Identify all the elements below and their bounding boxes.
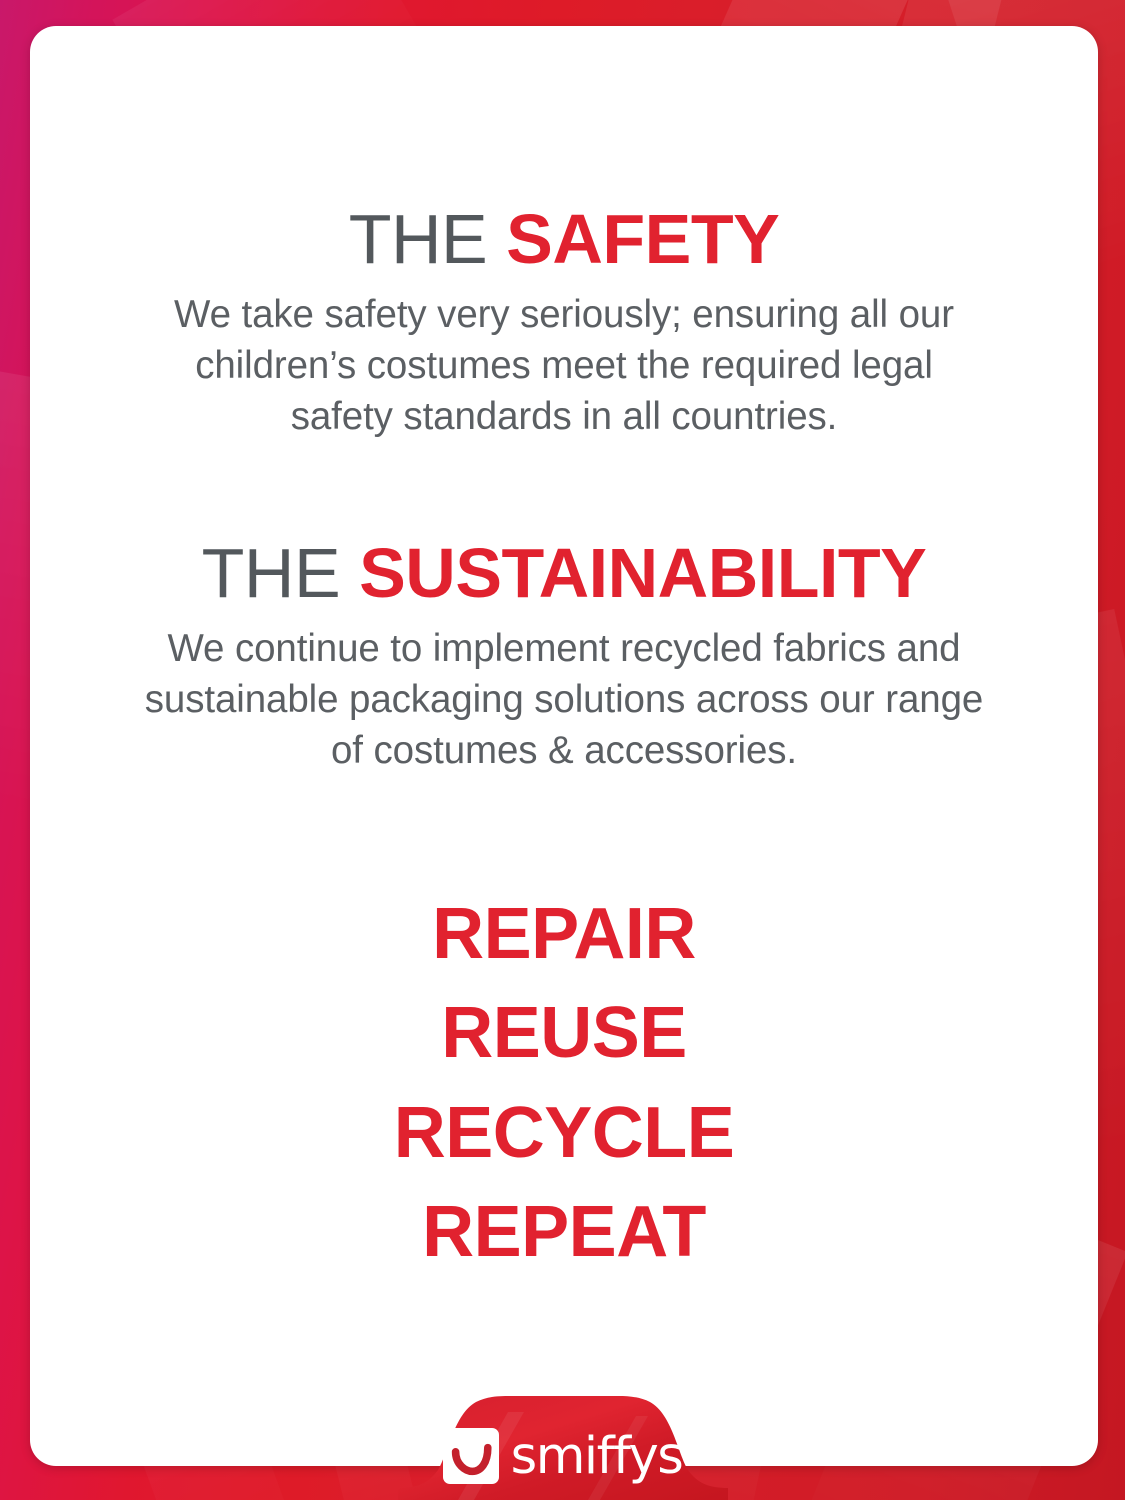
sustainability-heading-thin: THE [202,534,341,612]
smiffys-wordmark: smiffys ™ [511,1431,683,1482]
slogan-word-reuse: REUSE [30,984,1098,1083]
smiffys-mark [443,1428,499,1484]
content-card: THE SAFETY We take safety very seriously… [30,26,1098,1466]
sustainability-heading-bold: SUSTAINABILITY [359,534,926,612]
slogan-word-repeat: REPEAT [30,1183,1098,1282]
smile-icon [443,1402,499,1500]
content-stack: THE SAFETY We take safety very seriously… [30,204,1098,1282]
slogan-word-repair: REPAIR [30,885,1098,984]
slogan-list: REPAIR REUSE RECYCLE REPEAT [30,885,1098,1282]
trademark-symbol: ™ [693,1425,708,1440]
section-sustainability: THE SUSTAINABILITY We continue to implem… [30,538,1098,776]
safety-body-text: We take safety very seriously; ensuring … [139,290,989,442]
section-spacer [30,442,1098,538]
safety-heading: THE SAFETY [30,204,1098,274]
slogan-word-recycle: RECYCLE [30,1084,1098,1183]
section-safety: THE SAFETY We take safety very seriously… [30,204,1098,442]
safety-heading-bold: SAFETY [506,200,779,278]
sustainability-body-text: We continue to implement recycled fabric… [139,624,989,776]
smiffys-wordmark-text: smiffys [511,1427,683,1486]
smiffys-logo-inner: smiffys ™ [398,1392,728,1500]
safety-heading-thin: THE [349,200,488,278]
sustainability-heading: THE SUSTAINABILITY [30,538,1098,608]
poster: THE SAFETY We take safety very seriously… [0,0,1125,1500]
smiffys-logo-tab: smiffys ™ [398,1392,728,1500]
